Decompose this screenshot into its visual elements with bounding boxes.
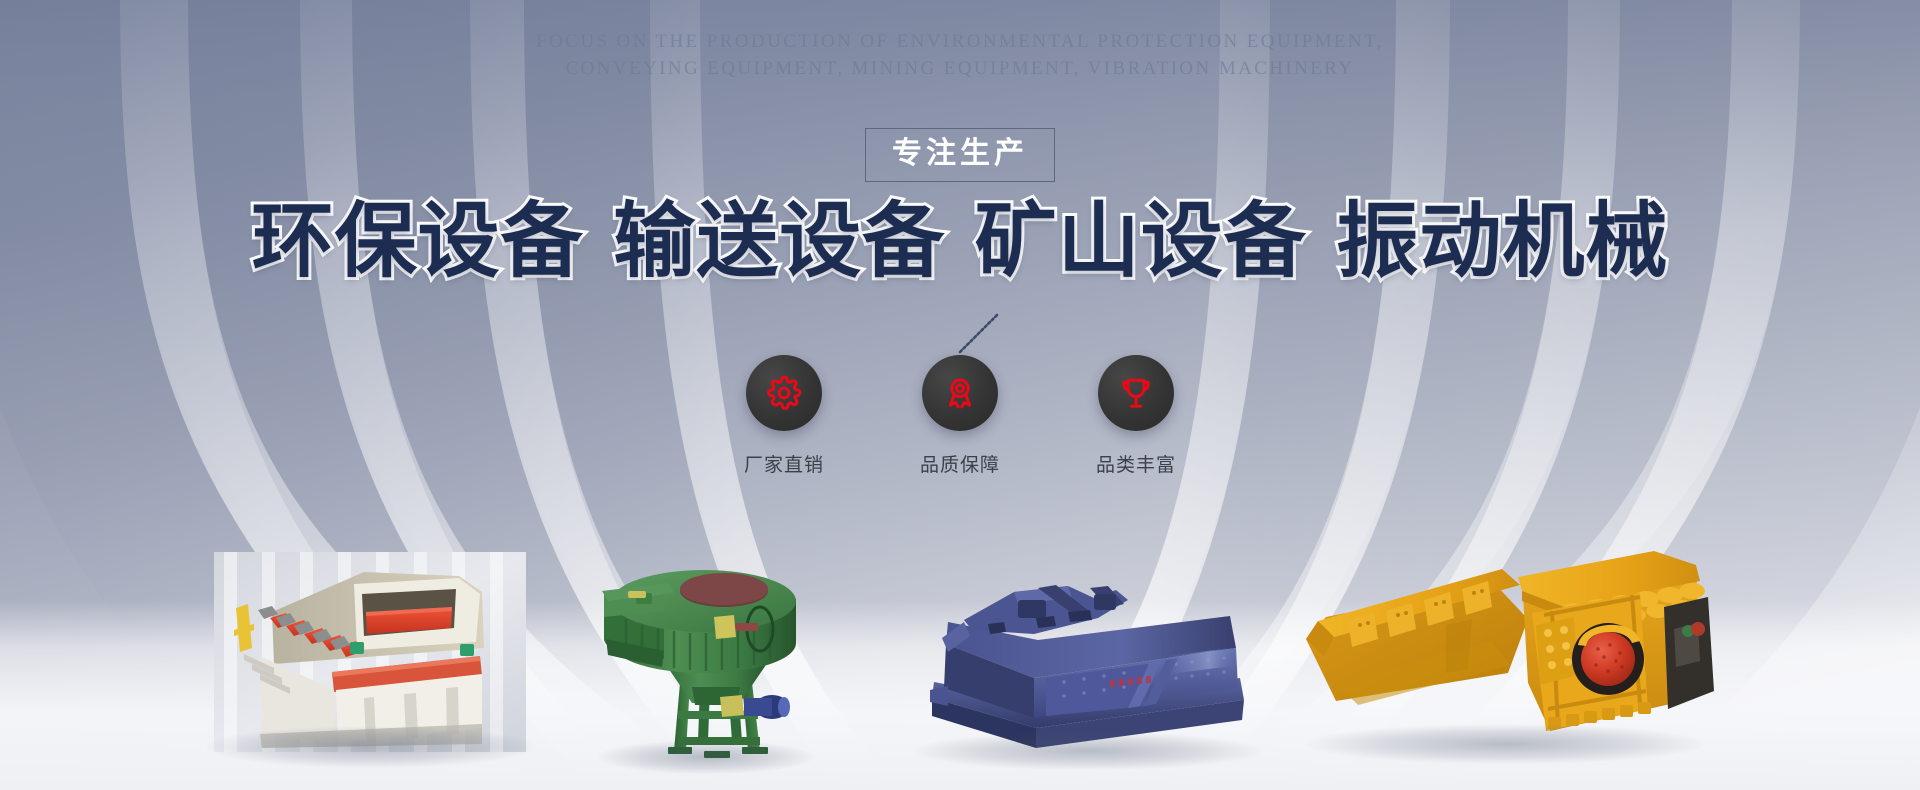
- green-feeder-illustration: [592, 555, 824, 760]
- badge-container: 专注生产: [0, 128, 1920, 182]
- machine-green-round-feeder: [592, 555, 824, 760]
- dotted-slash-icon: [956, 310, 1002, 356]
- eyebrow-tagline: FOCUS ON THE PRODUCTION OF ENVIRONMENTAL…: [0, 28, 1920, 82]
- machine-screening-plant: [214, 552, 526, 752]
- focus-production-badge: 专注生产: [865, 128, 1055, 182]
- gear-icon: [765, 374, 803, 412]
- machine-gallery: [0, 450, 1920, 790]
- screening-plant-illustration: [214, 552, 526, 752]
- blue-screen-illustration: [918, 582, 1258, 752]
- feature-icon-circle: [746, 355, 822, 431]
- medal-icon: [941, 374, 979, 412]
- trophy-icon: [1117, 374, 1155, 412]
- machine-blue-vibrating-screen: [918, 582, 1258, 752]
- feature-icon-circle: [1098, 355, 1174, 431]
- headline-container: 环保设备 输送设备 矿山设备 振动机械: [0, 196, 1920, 288]
- hero-banner: FOCUS ON THE PRODUCTION OF ENVIRONMENTAL…: [0, 0, 1920, 790]
- page-title: 环保设备 输送设备 矿山设备 振动机械: [252, 196, 1669, 288]
- yellow-feeder-illustration: [1296, 533, 1726, 748]
- feature-icon-circle: [922, 355, 998, 431]
- machine-yellow-grizzly-feeder: [1296, 533, 1726, 748]
